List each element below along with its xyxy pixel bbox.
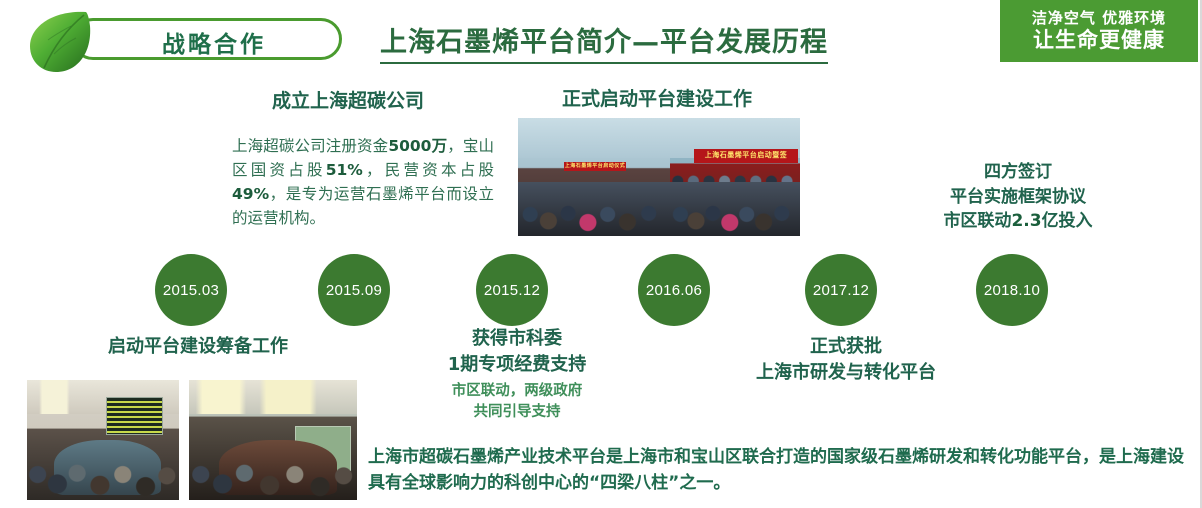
photo-red-banner-left: 上海石墨烯平台启动仪式 [564,162,626,171]
photo-ceiling [518,118,670,158]
company-text-b2: 51% [326,161,363,179]
right-block-line-2: 平台实施框架协议 [908,185,1128,210]
meeting-photo-left [27,380,179,500]
company-text-b3: 49% [232,185,269,203]
launch-photo-pane-right: 上海石墨烯平台启动暨签 [670,118,800,236]
timeline-circle-2015-12[interactable]: 2015.12 [476,254,548,326]
caption-2015-12-sub-2: 共同引导支持 [402,402,632,423]
photo-red-banner-right: 上海石墨烯平台启动暨签 [694,149,798,163]
milestone-caption-2015-12: 获得市科委 1期专项经费支持 市区联动，两级政府 共同引导支持 [402,326,632,423]
platform-summary-note: 上海市超碳石墨烯产业技术平台是上海市和宝山区联合打造的国家级石墨烯研发和转化功能… [368,444,1184,497]
photo-audience [670,182,800,236]
milestone-caption-2015-03: 启动平台建设筹备工作 [58,334,338,360]
right-block-investment-amount: 2.3 [1011,211,1041,231]
meeting-photo-right [189,380,357,500]
right-block-line-3-post: 亿投入 [1042,211,1093,231]
company-heading: 成立上海超碳公司 [272,86,424,113]
page-title: 上海石墨烯平台简介—平台发展历程 [380,20,828,64]
right-block-line-1: 四方签订 [908,160,1128,185]
photo-ceiling-lights [189,380,357,414]
timeline-circle-2015-09[interactable]: 2015.09 [318,254,390,326]
timeline-circle-2017-12[interactable]: 2017.12 [805,254,877,326]
launch-photo-pane-left: 上海石墨烯平台启动仪式 [518,118,670,236]
caption-2015-12-line-2: 1期专项经费支持 [402,352,632,378]
caption-2015-12-line-1: 获得市科委 [402,326,632,352]
photo-attendees [27,433,179,500]
timeline-circle-2016-06[interactable]: 2016.06 [638,254,710,326]
milestone-caption-2017-12: 正式获批 上海市研发与转化平台 [716,334,976,385]
caption-2017-12-line-1: 正式获批 [716,334,976,360]
launch-heading: 正式启动平台建设工作 [562,84,752,111]
leaf-icon [24,8,96,74]
eco-slogan-line-1: 洁净空气 优雅环境 [1000,9,1198,28]
caption-2017-12-line-2: 上海市研发与转化平台 [716,360,976,386]
timeline-circle-2015-03[interactable]: 2015.03 [155,254,227,326]
caption-phase-rest: 期专项经费支持 [460,354,586,375]
company-text-p3: ，民营资本占股 [363,161,494,179]
company-description: 上海超碳公司注册资金5000万，宝山区国资占股51%，民营资本占股49%，是专为… [232,134,494,230]
slide-canvas: 战略合作 上海石墨烯平台简介—平台发展历程 洁净空气 优雅环境 让生命更健康 成… [0,0,1202,508]
company-text-p4: ，是专为运营石墨烯平台而设立的运营机构。 [232,185,494,227]
eco-slogan-line-2: 让生命更健康 [1000,28,1198,53]
company-text-p1: 上海超碳公司注册资金 [232,137,388,155]
right-block-line-3: 市区联动2.3亿投入 [908,209,1128,234]
badge-label: 战略合作 [124,25,304,59]
eco-slogan-banner: 洁净空气 优雅环境 让生命更健康 [1000,0,1198,62]
photo-projector-screen [106,397,163,435]
timeline-circle-2018-10[interactable]: 2018.10 [976,254,1048,326]
four-party-agreement-block: 四方签订 平台实施框架协议 市区联动2.3亿投入 [908,160,1128,234]
strategic-cooperation-badge: 战略合作 [24,8,334,70]
meeting-photos-group [27,380,357,500]
caption-2015-12-sub-1: 市区联动，两级政府 [402,381,632,402]
photo-attendees [189,433,357,500]
photo-audience [518,182,670,236]
launch-ceremony-photo: 上海石墨烯平台启动仪式 上海石墨烯平台启动暨签 [518,118,800,236]
caption-phase-number: 1 [448,354,461,375]
company-text-b1: 5000万 [388,137,447,155]
right-block-line-3-pre: 市区联动 [943,211,1011,231]
